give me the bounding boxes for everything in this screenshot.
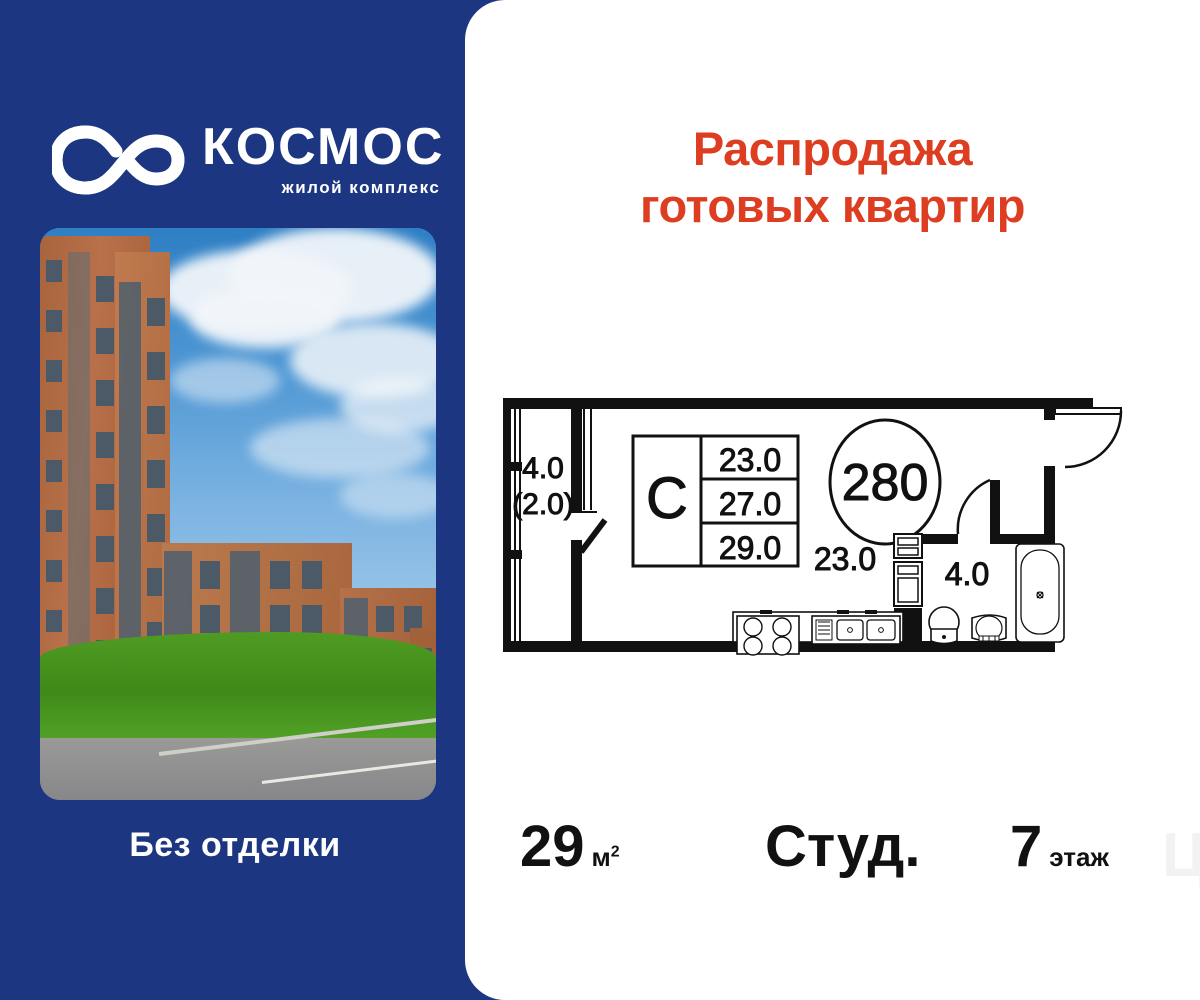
floor-plan: 4.0 (2.0) C 23.0 27.0 29.0 280 23.0 xyxy=(485,380,1185,680)
area-row-3: 29.0 xyxy=(719,530,781,566)
bathroom-area-label: 4.0 xyxy=(945,556,989,592)
rooms-label: Студ. xyxy=(765,818,920,876)
photo-road xyxy=(40,738,436,800)
stat-rooms: Студ. xyxy=(765,818,920,876)
right-white-panel: Распродажа готовых квартир xyxy=(465,0,1200,1000)
area-row-1: 23.0 xyxy=(719,442,781,478)
road-marking xyxy=(262,757,436,784)
area-row-2: 27.0 xyxy=(719,486,781,522)
brand-name: КОСМОС xyxy=(202,120,444,174)
finish-label: Без отделки xyxy=(0,826,470,865)
stat-floor: 7 этаж xyxy=(1010,818,1109,876)
apartment-number: 280 xyxy=(842,454,929,512)
brand-tagline: жилой комплекс xyxy=(202,178,444,198)
floor-value: 7 xyxy=(1010,818,1042,876)
balcony-area-label: 4.0 xyxy=(522,452,564,485)
cloud xyxy=(250,418,430,478)
left-blue-panel: КОСМОС жилой комплекс xyxy=(0,0,470,1000)
headline-line-2: готовых квартир xyxy=(465,177,1200,234)
brand-text: КОСМОС жилой комплекс xyxy=(202,120,444,198)
balcony-area-reduced-label: (2.0) xyxy=(512,488,574,521)
building-photo xyxy=(40,228,436,800)
apartment-stats: 29 м2 Студ. 7 этаж xyxy=(465,808,1200,898)
living-area-label: 23.0 xyxy=(814,541,876,577)
poster-root: КОСМОС жилой комплекс xyxy=(0,0,1200,1000)
cloud xyxy=(170,358,280,403)
floor-label: этаж xyxy=(1049,842,1109,873)
headline-line-1: Распродажа xyxy=(465,120,1200,177)
page-title: Распродажа готовых квартир xyxy=(465,120,1200,234)
area-value: 29 xyxy=(520,818,585,876)
area-unit: м2 xyxy=(592,842,620,873)
infinity-icon xyxy=(52,124,192,196)
apartment-type-letter: C xyxy=(646,466,688,531)
stat-area: 29 м2 xyxy=(520,818,620,876)
floor-plan-svg: 4.0 (2.0) C 23.0 27.0 29.0 280 23.0 xyxy=(485,380,1185,680)
brand-logo: КОСМОС жилой комплекс xyxy=(52,118,442,213)
